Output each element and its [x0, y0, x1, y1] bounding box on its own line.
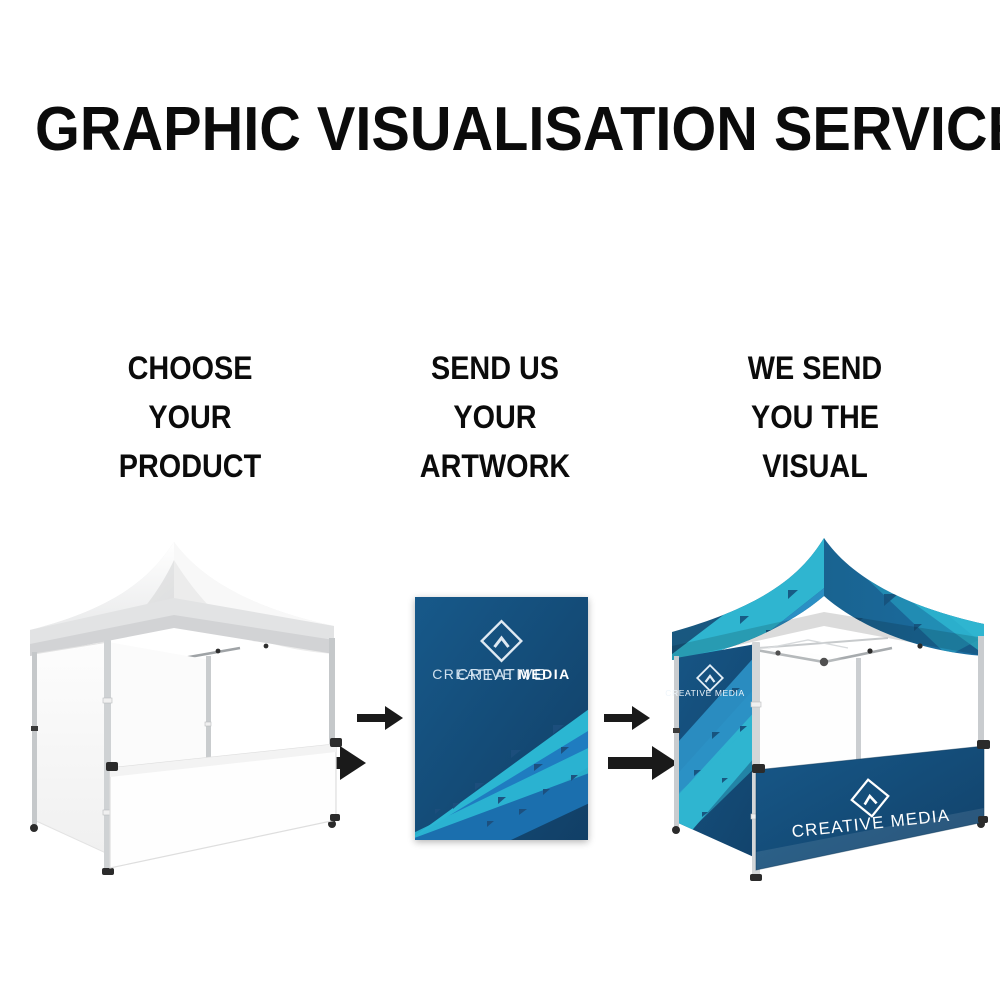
arrow-right-icon [604, 705, 650, 731]
step-send-us-your-artwork: SEND US YOUR ARTWORK [392, 344, 599, 491]
gazebo-wall-brand-text: CREATIVE MEDIA [660, 688, 750, 698]
step-line-2: YOUR [392, 393, 599, 442]
step-we-send-you-the-visual: WE SEND YOU THE VISUAL [712, 344, 919, 491]
process-steps: CHOOSE YOUR PRODUCT SEND US YOUR ARTWORK… [0, 344, 1000, 494]
blank-gazebo-image [4, 520, 356, 910]
step-line-1: SEND US [392, 344, 599, 393]
printed-gazebo-image: CREATIVE MEDIA CREATIVE MEDIA [648, 520, 1000, 910]
step-line-3: ARTWORK [392, 442, 599, 491]
step-line-2: YOU THE [712, 393, 919, 442]
step-line-1: CHOOSE [87, 344, 294, 393]
step-choose-your-product: CHOOSE YOUR PRODUCT [87, 344, 294, 491]
step-line-3: PRODUCT [87, 442, 294, 491]
step-line-2: YOUR [87, 393, 294, 442]
creative-media-artwork-panel: CREATIVE CREATIVEMEDIA [415, 597, 588, 840]
svg-text:CREATIVE: CREATIVE [457, 667, 546, 684]
poster-canvas: GRAPHIC VISUALISATION SERVICE CHOOSE YOU… [0, 0, 1000, 1000]
page-title: GRAPHIC VISUALISATION SERVICE [35, 94, 965, 166]
step-line-1: WE SEND [712, 344, 919, 393]
step-line-3: VISUAL [712, 442, 919, 491]
arrow-right-icon [357, 705, 403, 731]
process-visuals: CREATIVE CREATIVEMEDIA [0, 520, 1000, 940]
